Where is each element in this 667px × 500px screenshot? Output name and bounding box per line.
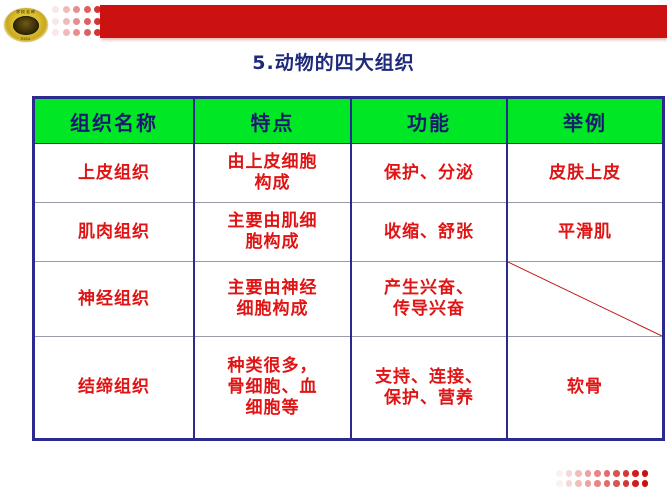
decorative-dot	[556, 480, 563, 487]
diagonal-strike-icon	[508, 262, 662, 336]
cell-example: 软骨	[507, 337, 664, 440]
cell-function: 保护、分泌	[351, 144, 507, 203]
decorative-dot	[566, 480, 573, 487]
school-seal-logo: 学校名称 EDU	[4, 8, 48, 42]
cell-tissue-name: 肌肉组织	[34, 203, 195, 262]
decorative-dot	[84, 18, 91, 25]
decorative-dot	[604, 480, 611, 487]
cell-tissue-name: 结缔组织	[34, 337, 195, 440]
decorative-dot	[63, 18, 70, 25]
cell-function: 支持、连接、 保护、营养	[351, 337, 507, 440]
cell-example-struck-through	[507, 262, 664, 337]
header-band: 学校名称 EDU	[0, 0, 667, 46]
decorative-dot	[594, 480, 601, 487]
cell-function: 产生兴奋、 传导兴奋	[351, 262, 507, 337]
decorative-dot	[632, 470, 639, 477]
decorative-dot	[575, 470, 582, 477]
decorative-dot	[604, 470, 611, 477]
decorative-dot	[52, 18, 59, 25]
table-row: 结缔组织 种类很多， 骨细胞、血 细胞等 支持、连接、 保护、营养 软骨	[34, 337, 664, 440]
decorative-dot	[623, 470, 630, 477]
cell-tissue-name: 上皮组织	[34, 144, 195, 203]
decorative-dot	[585, 480, 592, 487]
decorative-dot	[632, 480, 639, 487]
decorative-dot	[575, 480, 582, 487]
cell-function: 收缩、舒张	[351, 203, 507, 262]
decorative-dot	[63, 29, 70, 36]
decorative-dot	[594, 470, 601, 477]
decorative-dot	[585, 470, 592, 477]
decorative-dot	[73, 29, 80, 36]
column-header-feature: 特点	[194, 98, 351, 144]
column-header-tissue-name: 组织名称	[34, 98, 195, 144]
decorative-dot	[566, 470, 573, 477]
decorative-dot	[84, 29, 91, 36]
seal-bottom-text: EDU	[4, 37, 48, 41]
decorative-dot	[642, 480, 649, 487]
decorative-dot	[623, 480, 630, 487]
seal-inner-circle	[13, 16, 39, 35]
decorative-dot	[84, 6, 91, 13]
table-row: 肌肉组织 主要由肌细 胞构成 收缩、舒张 平滑肌	[34, 203, 664, 262]
cell-tissue-name: 神经组织	[34, 262, 195, 337]
decorative-dot	[556, 470, 563, 477]
decorative-dot	[52, 6, 59, 13]
cell-feature: 主要由神经 细胞构成	[194, 262, 351, 337]
decorative-dot	[63, 6, 70, 13]
decorative-dot	[613, 470, 620, 477]
column-header-example: 举例	[507, 98, 664, 144]
column-header-function: 功能	[351, 98, 507, 144]
decorative-dot	[642, 470, 649, 477]
page-title: 5.动物的四大组织	[0, 48, 667, 75]
cell-feature: 由上皮细胞 构成	[194, 144, 351, 203]
table-row: 神经组织 主要由神经 细胞构成 产生兴奋、 传导兴奋	[34, 262, 664, 337]
cell-example: 皮肤上皮	[507, 144, 664, 203]
seal-top-text: 学校名称	[4, 9, 48, 14]
decorative-dot	[73, 18, 80, 25]
cell-feature: 主要由肌细 胞构成	[194, 203, 351, 262]
header-red-banner	[100, 5, 667, 38]
animal-tissue-table: 组织名称 特点 功能 举例 上皮组织 由上皮细胞 构成 保护、分泌 皮肤上皮 肌…	[32, 96, 665, 441]
cell-feature: 种类很多， 骨细胞、血 细胞等	[194, 337, 351, 440]
table-row: 上皮组织 由上皮细胞 构成 保护、分泌 皮肤上皮	[34, 144, 664, 203]
decorative-dot-grid-bottom	[556, 470, 656, 492]
table-header-row: 组织名称 特点 功能 举例	[34, 98, 664, 144]
decorative-dot	[73, 6, 80, 13]
decorative-dot	[613, 480, 620, 487]
decorative-dot	[52, 29, 59, 36]
cell-example: 平滑肌	[507, 203, 664, 262]
